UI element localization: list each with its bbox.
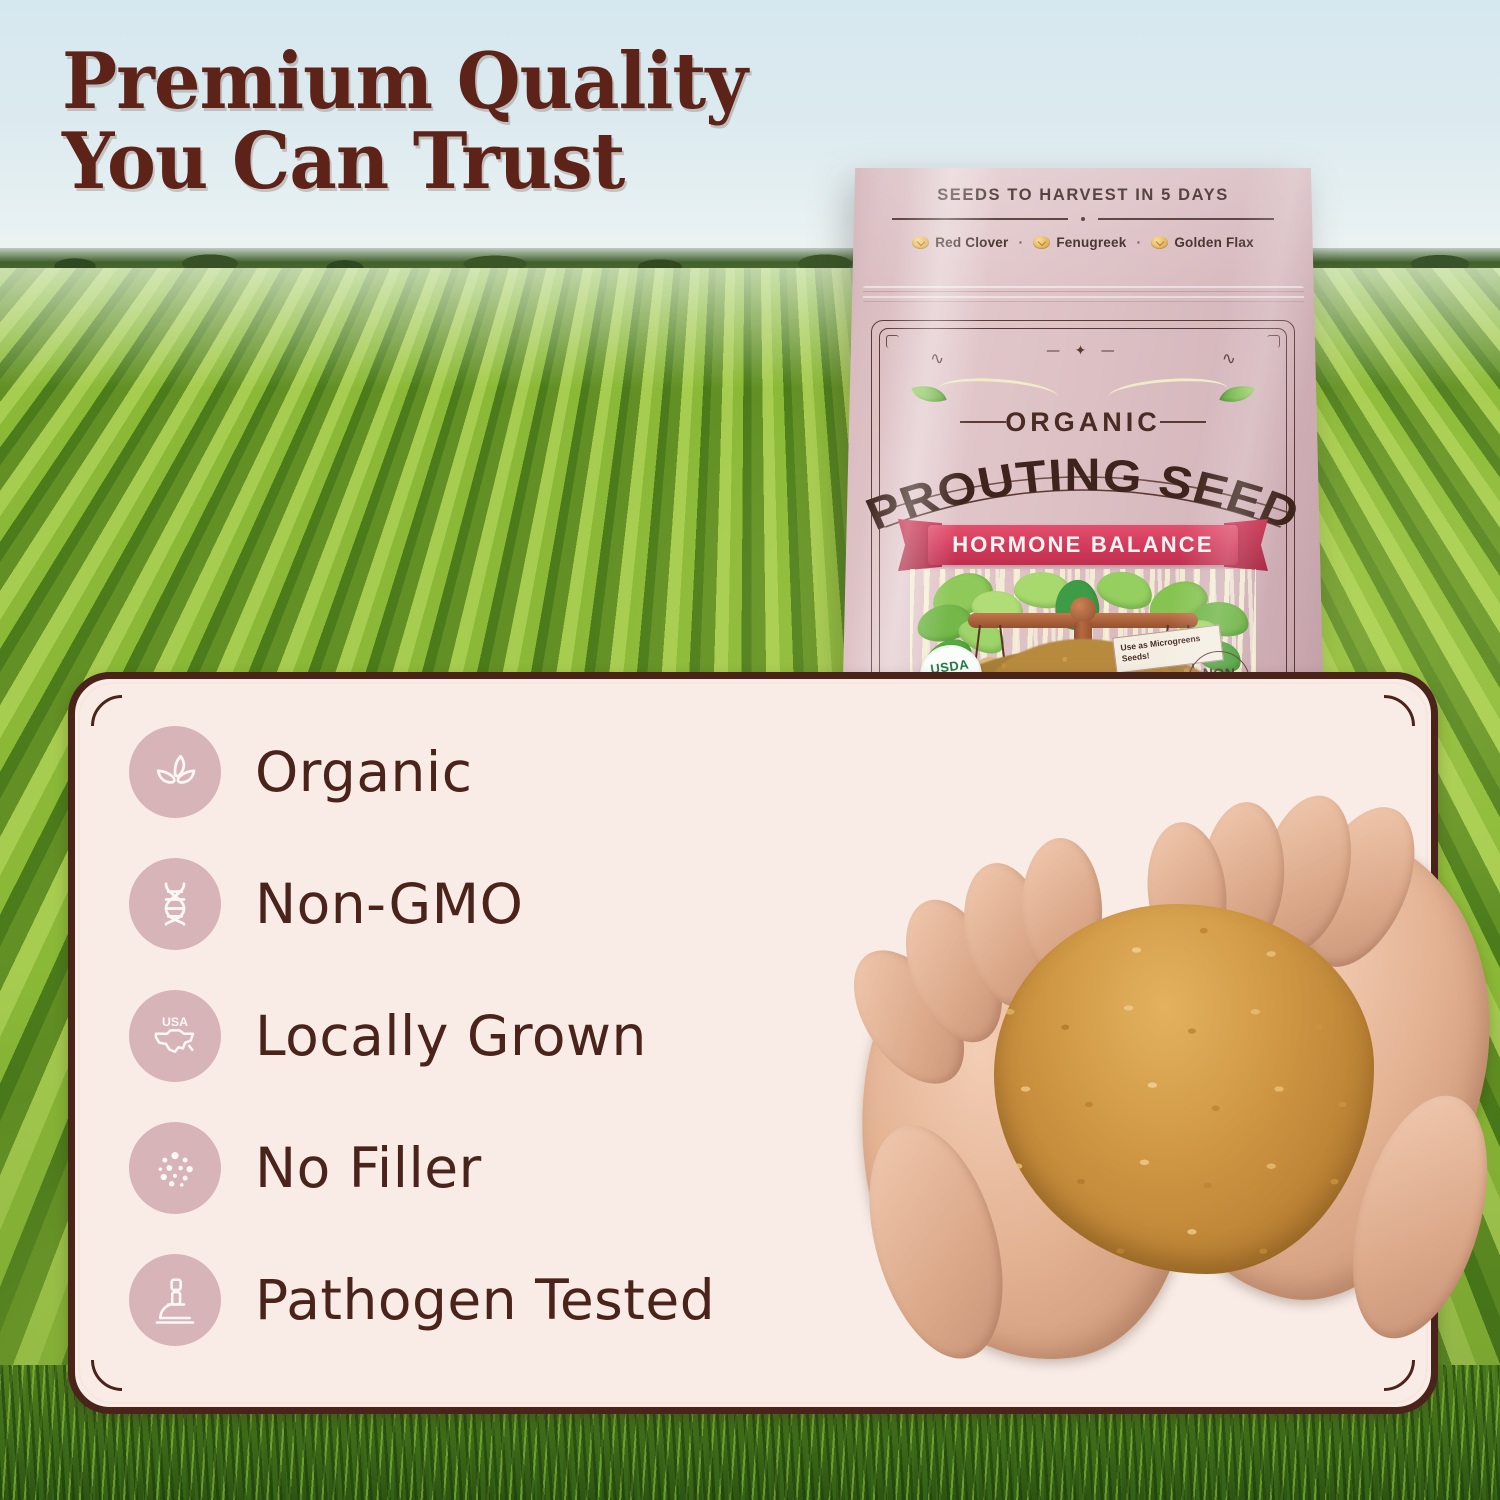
seed-variety-item: Golden Flax bbox=[1151, 235, 1253, 250]
seed-mound bbox=[994, 904, 1374, 1274]
seed-variety-label: Golden Flax bbox=[1174, 235, 1253, 250]
seed-icon bbox=[912, 236, 929, 249]
feature-item-organic: Organic bbox=[129, 717, 889, 827]
vine-decoration bbox=[937, 375, 1059, 411]
feature-label: Locally Grown bbox=[255, 1004, 647, 1068]
hands-holding-seeds bbox=[858, 792, 1498, 1432]
feature-item-pathogen-tested: Pathogen Tested bbox=[129, 1245, 889, 1355]
harvest-claim: SEEDS TO HARVEST IN 5 DAYS bbox=[838, 186, 1328, 205]
variety-separator: · bbox=[1018, 234, 1023, 250]
squiggle-right-icon: ∿ bbox=[1222, 349, 1236, 369]
leaf-icon bbox=[1219, 379, 1254, 409]
feature-label: Organic bbox=[255, 740, 472, 804]
dna-icon bbox=[129, 858, 221, 950]
feature-label: No Filler bbox=[255, 1136, 482, 1200]
seed-icon bbox=[1033, 236, 1050, 249]
bag-zipper bbox=[863, 286, 1304, 304]
feature-label: Non-GMO bbox=[255, 872, 523, 936]
header-divider bbox=[892, 214, 1274, 223]
seed-variety-list: Red Clover · Fenugreek · Golden Flax bbox=[838, 234, 1328, 250]
squiggle-left-icon: ∿ bbox=[930, 349, 944, 369]
feature-list: Organic Non-GMO USA Locally Grown bbox=[129, 717, 889, 1355]
usa-map-icon: USA bbox=[129, 990, 221, 1082]
organic-label: ORGANIC bbox=[872, 407, 1294, 438]
svg-text:USA: USA bbox=[162, 1015, 188, 1029]
leaves-icon bbox=[129, 726, 221, 818]
panel-corner-arc-icon bbox=[1353, 695, 1415, 757]
microscope-icon bbox=[129, 1254, 221, 1346]
feature-label: Pathogen Tested bbox=[255, 1268, 715, 1332]
organic-rule bbox=[960, 421, 1006, 423]
seed-variety-item: Red Clover bbox=[912, 235, 1008, 250]
feature-item-non-gmo: Non-GMO bbox=[129, 849, 889, 959]
particles-icon bbox=[129, 1122, 221, 1214]
variant-ribbon: HORMONE BALANCE bbox=[898, 519, 1268, 571]
seed-variety-item: Fenugreek bbox=[1033, 235, 1126, 250]
headline-line-1: Premium Quality bbox=[62, 36, 747, 127]
page-title: Premium Quality You Can Trust bbox=[62, 42, 842, 201]
feature-item-no-filler: No Filler bbox=[129, 1113, 889, 1223]
seed-variety-label: Fenugreek bbox=[1056, 235, 1126, 250]
seed-icon bbox=[1151, 236, 1168, 249]
feature-item-locally-grown: USA Locally Grown bbox=[129, 981, 889, 1091]
organic-rule bbox=[1160, 421, 1206, 423]
bag-header: SEEDS TO HARVEST IN 5 DAYS Red Clover · … bbox=[838, 186, 1328, 250]
seed-variety-label: Red Clover bbox=[935, 235, 1008, 250]
headline-line-2: You Can Trust bbox=[62, 122, 842, 202]
variant-label: HORMONE BALANCE bbox=[928, 525, 1238, 565]
vine-decoration bbox=[1107, 375, 1229, 411]
variety-separator: · bbox=[1136, 234, 1141, 250]
